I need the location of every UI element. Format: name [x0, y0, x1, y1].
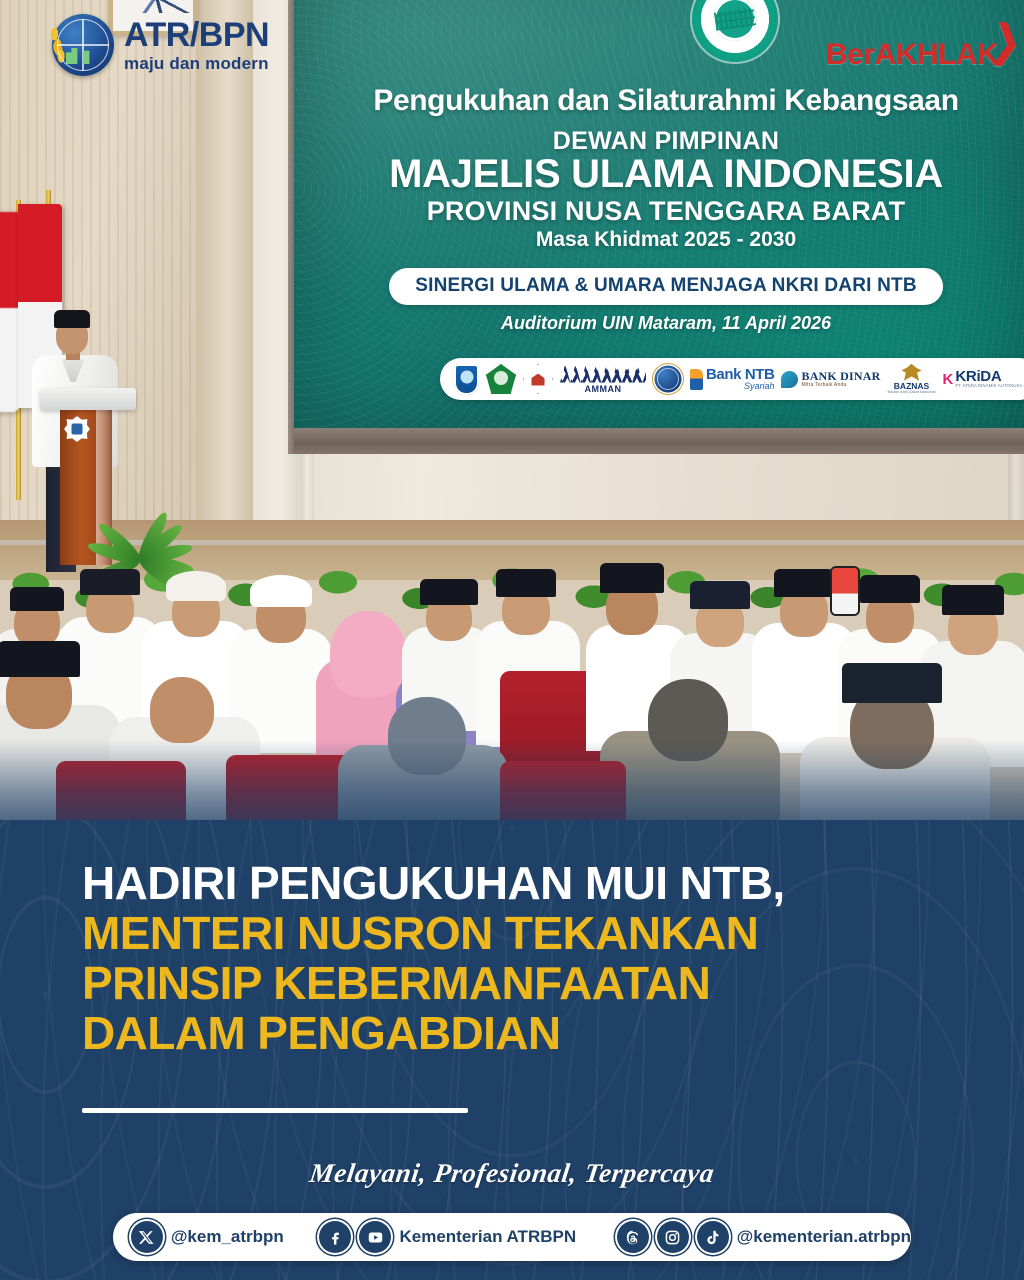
sponsor-amman: AMMAN	[560, 365, 646, 394]
sponsor-logo-strip: AMMAN Bank NTB Syariah BANK DINAR Mitra …	[440, 358, 1024, 400]
social-group-threads-instagram-tiktok[interactable]: @kementerian.atrbpn	[617, 1221, 911, 1253]
bankdinar-sub: Mitra Terbaik Anda	[801, 383, 880, 388]
brand-tagline: maju dan modern	[124, 55, 269, 72]
threads-icon[interactable]	[617, 1221, 649, 1253]
bankntb-label: Bank NTB	[706, 367, 774, 382]
screen-frame-bottom	[294, 428, 1024, 454]
instagram-icon[interactable]	[657, 1221, 689, 1253]
sponsor-bank-ntb: Bank NTB Syariah	[690, 367, 774, 391]
berakhlak-badge: BerAKHLAK ❯	[826, 38, 998, 72]
amman-label: AMMAN	[585, 385, 622, 394]
krida-label: KRiDA	[955, 369, 1022, 384]
sponsor-star-mosque-icon	[523, 364, 553, 394]
screen-venue-line: Auditorium UIN Mataram, 11 April 2026	[294, 313, 1024, 334]
wall-panel	[196, 0, 254, 520]
screen-line-5: Masa Khidmat 2025 - 2030	[294, 228, 1024, 252]
podium-top	[40, 388, 136, 410]
amman-zigzag-icon	[560, 365, 646, 383]
screen-theme-pill: SINERGI ULAMA & UMARA MENJAGA NKRI DARI …	[389, 268, 943, 305]
headline: HADIRI PENGUKUHAN MUI NTB, MENTERI NUSRO…	[82, 858, 962, 1059]
k-mark-icon: K	[943, 371, 954, 388]
brand-logo: ATR/BPN maju dan modern	[52, 14, 269, 76]
krida-sub: PT. KRIDA DINAMIK AUTONUSA	[955, 384, 1022, 389]
screen-line-4: PROVINSI NUSA TENGGARA BARAT	[294, 196, 1024, 227]
headline-line-2: MENTERI NUSRON TEKANKAN	[82, 908, 962, 958]
headline-line-3: PRINSIP KEBERMANFAATAN	[82, 958, 962, 1008]
garuda-icon	[902, 364, 922, 381]
social-media-card: BerAKHLAK ❯ Pengukuhan dan Silaturahmi K…	[0, 0, 1024, 1280]
bankdinar-label: BANK DINAR	[801, 370, 880, 383]
social-group-facebook-youtube[interactable]: Kementerian ATRBPN	[319, 1221, 576, 1253]
swoosh-icon	[781, 371, 798, 388]
headline-divider	[82, 1108, 468, 1113]
indonesian-flag	[0, 212, 20, 412]
phone-screen	[832, 568, 858, 614]
x-twitter-icon[interactable]	[131, 1221, 163, 1253]
brand-name: ATR/BPN	[124, 18, 269, 52]
headline-line-1: HADIRI PENGUKUHAN MUI NTB,	[82, 858, 962, 908]
audience-crowd	[0, 555, 1024, 850]
sponsor-pentagon-emblem-icon	[486, 364, 516, 394]
bankntb-sub: Syariah	[706, 382, 774, 391]
x-handle: @kem_atrbpn	[171, 1227, 284, 1247]
tagline: Melayani, Profesional, Terpercaya	[0, 1158, 1024, 1189]
globe-rice-logo-icon	[52, 14, 114, 76]
sponsor-baznas: BAZNAS Badan Amil Zakat Nasional	[888, 364, 936, 395]
podium-emblem-icon	[64, 416, 90, 442]
youtube-icon[interactable]	[359, 1221, 391, 1253]
facebook-icon[interactable]	[319, 1221, 351, 1253]
facebook-youtube-handle: Kementerian ATRBPN	[399, 1227, 576, 1247]
screen-theme-pill-wrap: SINERGI ULAMA & UMARA MENJAGA NKRI DARI …	[294, 268, 1024, 305]
screen-line-3: MAJELIS ULAMA INDONESIA	[294, 152, 1024, 197]
sponsor-shield-emblem-icon	[454, 364, 479, 395]
instagram-handle: @kementerian.atrbpn	[737, 1227, 911, 1247]
screen-line-1: Pengukuhan dan Silaturahmi Kebangsaan	[294, 84, 1024, 118]
tiktok-icon[interactable]	[697, 1221, 729, 1253]
sponsor-krida: K KRiDA PT. KRIDA DINAMIK AUTONUSA	[943, 369, 1023, 389]
berakhlak-label: BerAKHLAK	[826, 38, 998, 71]
sponsor-bank-dinar: BANK DINAR Mitra Terbaik Anda	[781, 370, 880, 388]
social-group-x[interactable]: @kem_atrbpn	[131, 1221, 284, 1253]
baznas-sub: Badan Amil Zakat Nasional	[888, 390, 936, 394]
event-photo: BerAKHLAK ❯ Pengukuhan dan Silaturahmi K…	[0, 0, 1024, 850]
sponsor-globe-icon	[653, 364, 683, 394]
bankntb-mark-icon	[690, 369, 703, 390]
headline-line-4: DALAM PENGABDIAN	[82, 1008, 962, 1058]
speaker-peci-cap	[54, 310, 90, 328]
social-media-bar: @kem_atrbpn Kementerian ATRBPN	[113, 1213, 911, 1261]
